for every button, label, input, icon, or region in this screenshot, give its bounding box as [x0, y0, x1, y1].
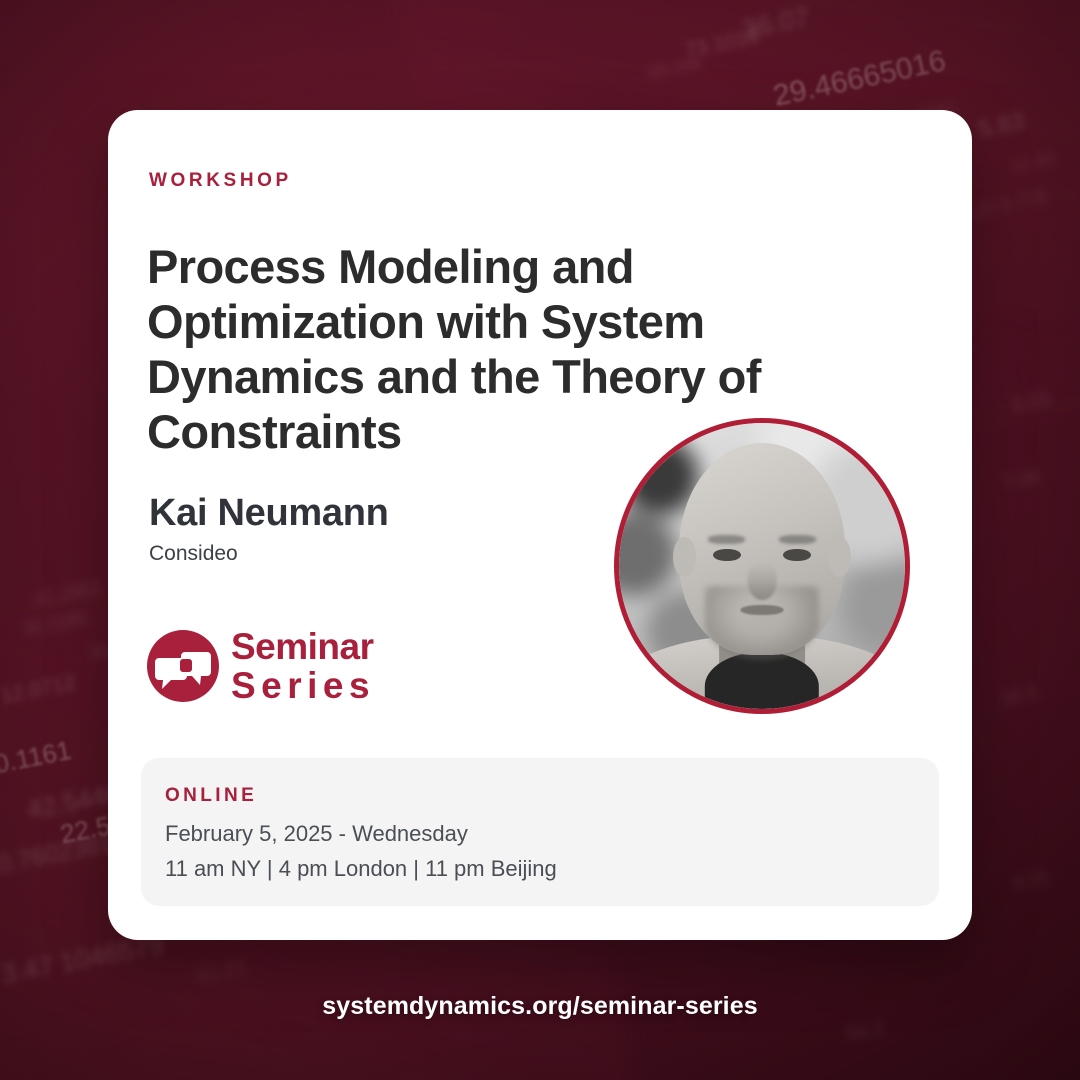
speaker-organization: Consideo [149, 542, 238, 566]
event-location-label: ONLINE [165, 785, 939, 807]
portrait-ear-right [828, 537, 851, 577]
portrait-eye-left [713, 549, 740, 562]
logo-word-series: Series [231, 667, 375, 704]
speaker-name: Kai Neumann [149, 492, 389, 535]
event-times: 11 am NY | 4 pm London | 11 pm Beijing [165, 856, 939, 882]
logo-word-seminar: Seminar [231, 628, 375, 665]
seminar-series-logo: Seminar Series [147, 628, 375, 704]
avatar [614, 418, 910, 714]
event-date: February 5, 2025 - Wednesday [165, 821, 939, 847]
portrait-mouth [741, 605, 784, 615]
speech-bubbles-icon [147, 630, 219, 702]
portrait-eye-right [783, 549, 810, 562]
event-type-label: WORKSHOP [149, 170, 292, 192]
portrait-brow-right [779, 535, 816, 544]
event-card: WORKSHOP Process Modeling andOptimizatio… [108, 110, 972, 940]
seminar-poster: 36.0773.101568.26629.466650161.09815.831… [0, 0, 1080, 1080]
footer-url[interactable]: systemdynamics.org/seminar-series [0, 992, 1080, 1021]
portrait-brow-left [708, 535, 745, 544]
event-details-box: ONLINE February 5, 2025 - Wednesday 11 a… [141, 758, 939, 906]
speaker-portrait [619, 423, 905, 709]
portrait-beard [705, 586, 819, 660]
